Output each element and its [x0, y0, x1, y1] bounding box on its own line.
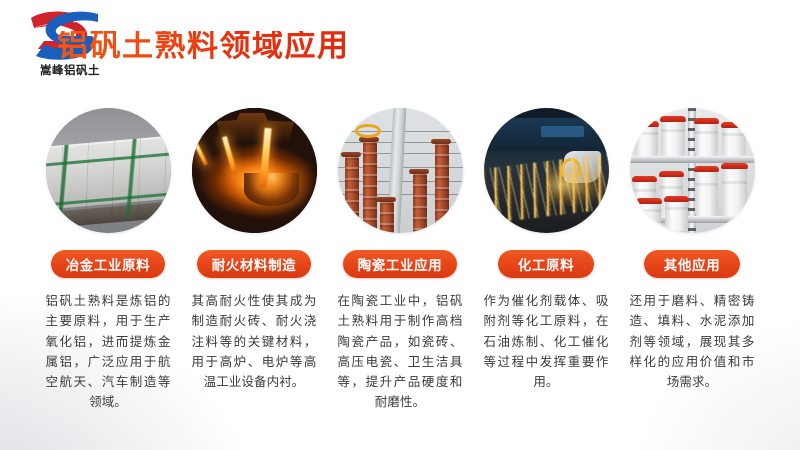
- ceramic-insulators-photo: [338, 108, 463, 233]
- application-card-other[interactable]: 其他应用 还用于磨料、精密铸造、填料、水泥添加剂等领域，展现其多样化的应用价值和…: [630, 108, 755, 392]
- card-badge-refractory[interactable]: 耐火材料制造: [197, 250, 312, 278]
- laser-cutting-sparks-photo: [484, 108, 609, 233]
- bauxite-applications-slide: 嵩峰铝矾土 铝矾土熟料领域应用 冶金工业原料 铝矾土熟料是炼铝的主要原料，用于生…: [0, 0, 800, 450]
- card-badge-chemical[interactable]: 化工原料: [498, 250, 594, 278]
- logo-subtext: 嵩峰铝矾土: [22, 62, 118, 78]
- card-badge-ceramics[interactable]: 陶瓷工业应用: [343, 250, 458, 278]
- card-description-other: 还用于磨料、精密铸造、填料、水泥添加剂等领域，展现其多样化的应用价值和市场需求。: [630, 291, 755, 392]
- white-barrels-shelf-photo: [630, 108, 755, 233]
- application-card-metallurgy[interactable]: 冶金工业原料 铝矾土熟料是炼铝的主要原料，用于生产氧化铝，进而提炼金属铝，广泛应…: [46, 108, 171, 413]
- card-description-refractory: 其高耐火性使其成为制造耐火砖、耐火浇注料等的关键材料，用于高炉、电炉等高温工业设…: [192, 291, 317, 392]
- page-title: 铝矾土熟料领域应用: [57, 31, 350, 62]
- card-description-metallurgy: 铝矾土熟料是炼铝的主要原料，用于生产氧化铝，进而提炼金属铝，广泛应用于航空航天、…: [46, 291, 171, 413]
- application-cards-row: 冶金工业原料 铝矾土熟料是炼铝的主要原料，用于生产氧化铝，进而提炼金属铝，广泛应…: [0, 108, 800, 444]
- stacked-gray-blocks-photo: [46, 108, 171, 233]
- application-card-ceramics[interactable]: 陶瓷工业应用 在陶瓷工业中，铝矾土熟料用于制作高档陶瓷产品，如瓷砖、高压电瓷、卫…: [338, 108, 463, 413]
- card-badge-metallurgy[interactable]: 冶金工业原料: [51, 250, 166, 278]
- card-description-ceramics: 在陶瓷工业中，铝矾土熟料用于制作高档陶瓷产品，如瓷砖、高压电瓷、卫生洁具等，提升…: [338, 291, 463, 413]
- card-badge-other[interactable]: 其他应用: [644, 250, 740, 278]
- slide-header: 嵩峰铝矾土 铝矾土熟料领域应用: [0, 0, 800, 96]
- application-card-refractory[interactable]: 耐火材料制造 其高耐火性使其成为制造耐火砖、耐火浇注料等的关键材料，用于高炉、电…: [192, 108, 317, 392]
- application-card-chemical[interactable]: 化工原料 作为催化剂载体、吸附剂等化工原料，在石油炼制、化工催化等过程中发挥重要…: [484, 108, 609, 392]
- card-description-chemical: 作为催化剂载体、吸附剂等化工原料，在石油炼制、化工催化等过程中发挥重要作用。: [484, 291, 609, 392]
- molten-metal-pouring-photo: [192, 108, 317, 233]
